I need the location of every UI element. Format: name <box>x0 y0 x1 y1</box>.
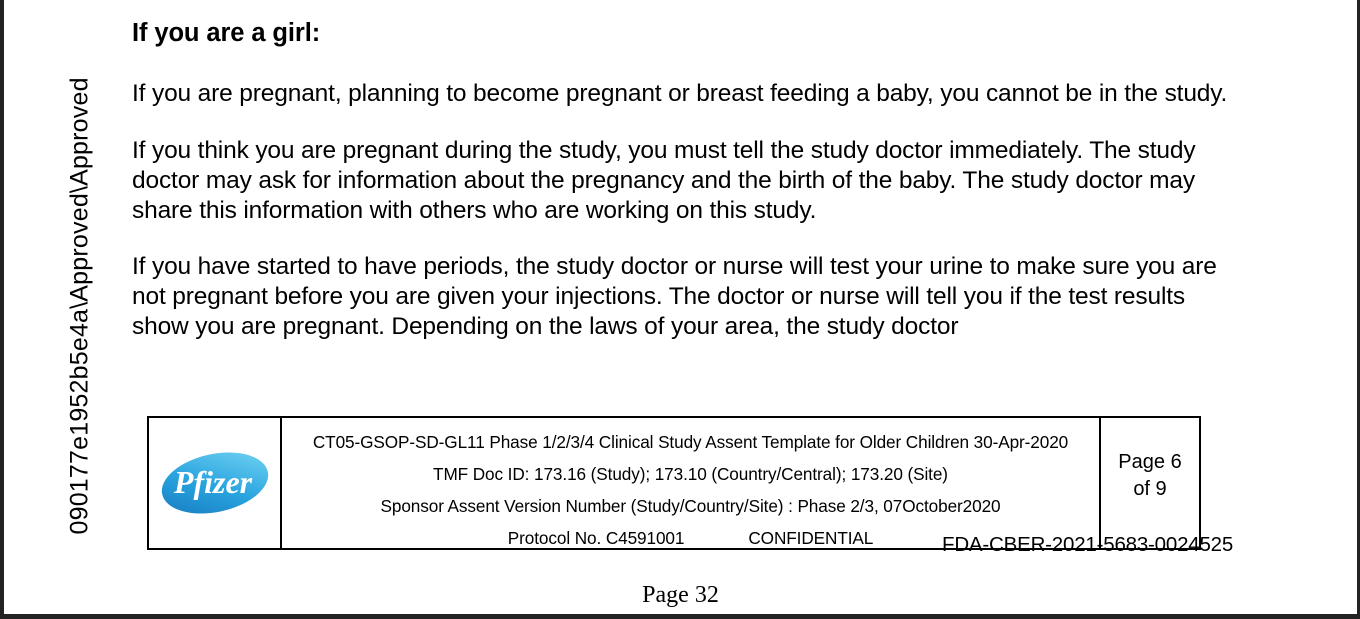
footer-info-cell: CT05-GSOP-SD-GL11 Phase 1/2/3/4 Clinical… <box>282 418 1101 548</box>
fda-cber-stamp: FDA-CBER-2021-5683-0024525 <box>942 533 1233 557</box>
footer-line-tmf: TMF Doc ID: 173.16 (Study); 173.10 (Coun… <box>288 458 1093 490</box>
footer-logo-cell: Pfizer <box>149 418 282 548</box>
footer-line-version: Sponsor Assent Version Number (Study/Cou… <box>288 490 1093 522</box>
footer-table: Pfizer CT05-GSOP-SD-GL11 Phase 1/2/3/4 C… <box>147 416 1201 550</box>
footer-page-cell: Page 6 of 9 <box>1101 418 1199 548</box>
svg-text:Pfizer: Pfizer <box>172 464 252 500</box>
section-heading: If you are a girl: <box>132 18 1242 49</box>
footer-line-template: CT05-GSOP-SD-GL11 Phase 1/2/3/4 Clinical… <box>288 426 1093 458</box>
body-paragraph-1: If you are pregnant, planning to become … <box>132 79 1242 109</box>
document-body: If you are a girl: If you are pregnant, … <box>132 18 1242 369</box>
body-paragraph-3: If you have started to have periods, the… <box>132 252 1242 342</box>
protocol-number: Protocol No. C4591001 <box>508 528 685 548</box>
footer-page-number: Page 6 <box>1118 449 1181 476</box>
footer-page-total: of 9 <box>1133 476 1166 503</box>
sheet-page-label: Page 32 <box>4 582 1357 609</box>
pfizer-logo: Pfizer <box>159 446 271 520</box>
document-page: 090177e1952b5e4a\Approved\Approved If yo… <box>0 0 1360 619</box>
body-paragraph-2: If you think you are pregnant during the… <box>132 136 1242 226</box>
approval-stamp-text: 090177e1952b5e4a\Approved\Approved <box>66 0 95 535</box>
confidential-label: CONFIDENTIAL <box>748 528 873 548</box>
approval-side-stamp: 090177e1952b5e4a\Approved\Approved <box>4 0 124 540</box>
